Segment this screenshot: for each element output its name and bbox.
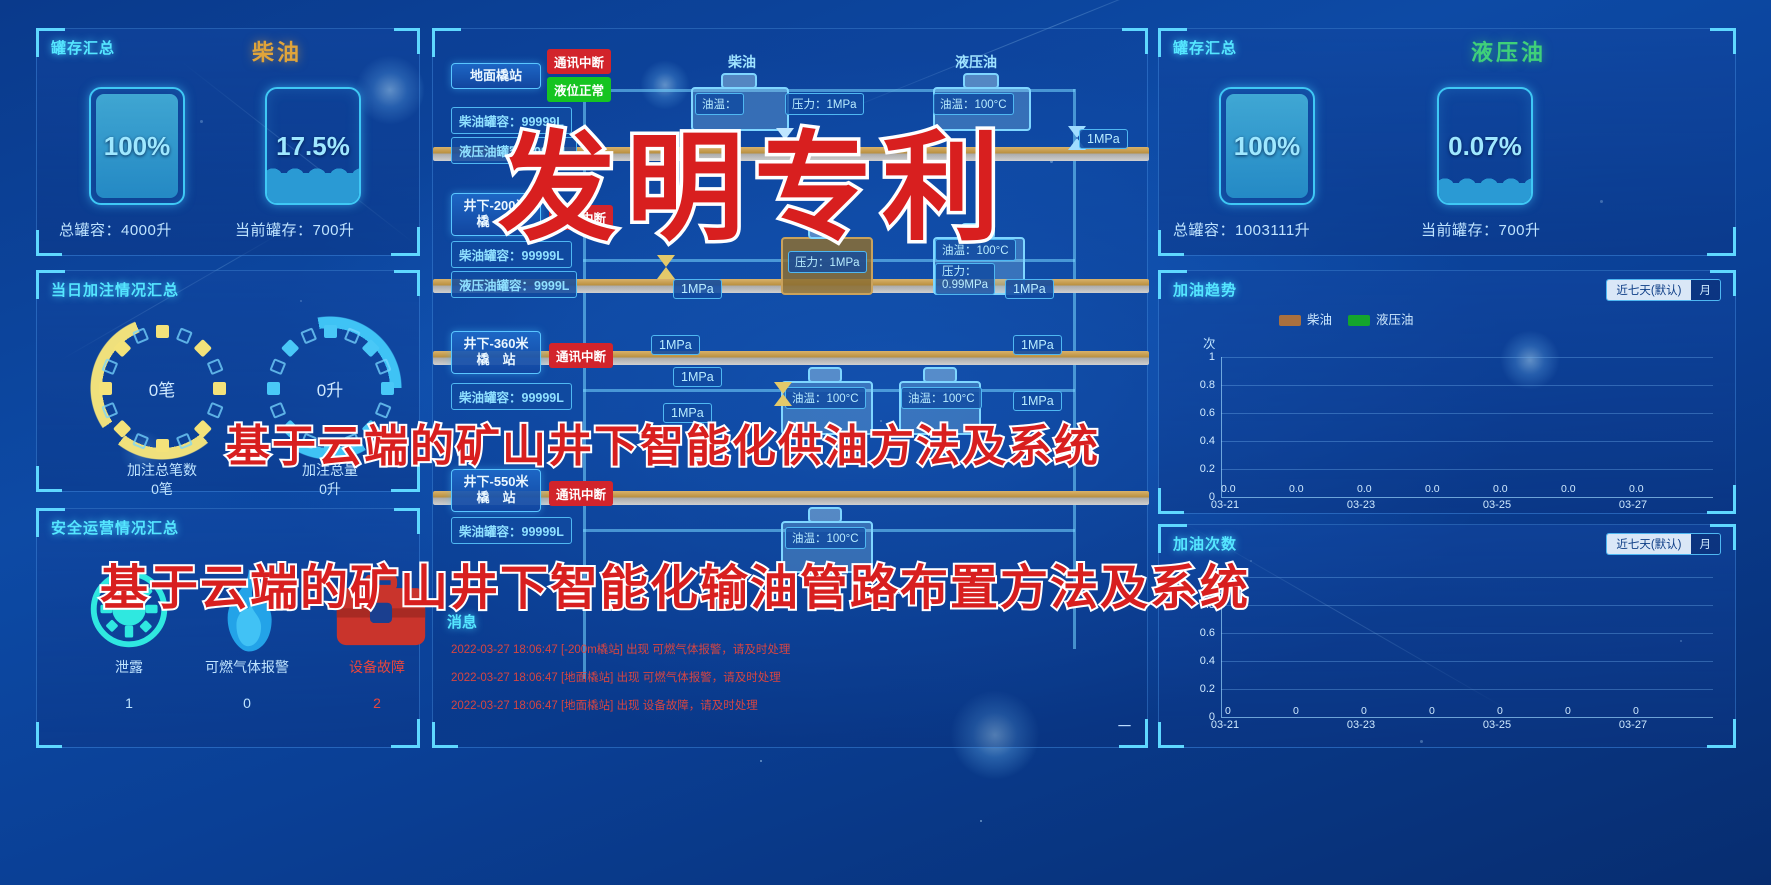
safety-label-gas-alarm: 可燃气体报警 bbox=[187, 657, 307, 677]
station-chip-360m[interactable]: 井下-360米 橇 站 bbox=[451, 331, 541, 374]
tank-percent-current-diesel: 17.5% bbox=[267, 89, 359, 203]
chart-gridline bbox=[1221, 689, 1713, 690]
chart-gridline bbox=[1221, 357, 1713, 358]
chart-point-label: 0.0 bbox=[1221, 483, 1236, 495]
tank-total-capacity-hydraulic: 总罐容：1003111升 bbox=[1173, 219, 1310, 240]
chart-x-axis bbox=[1221, 717, 1713, 718]
panel-title-hydraulic-tank: 罐存汇总 bbox=[1173, 37, 1237, 58]
chart-gridline bbox=[1221, 605, 1713, 606]
chart-point-label: 0.0 bbox=[1629, 483, 1644, 495]
panel-safety-operation-summary: 安全运营情况汇总 bbox=[36, 508, 420, 748]
panel-refuel-trend-chart: 加油趋势 近七天(默认) 月 柴油 液压油 次 1 0.8 0.6 0.4 0.… bbox=[1158, 270, 1736, 514]
range-option-week[interactable]: 近七天(默认) bbox=[1607, 534, 1690, 554]
watermark-main: 发明专利 bbox=[498, 92, 1010, 263]
chart-x-axis bbox=[1221, 497, 1713, 498]
range-option-month[interactable]: 月 bbox=[1691, 280, 1721, 300]
tank-current-stock-hydraulic: 当前罐存：700升 bbox=[1421, 219, 1541, 240]
chart-xtick: 03-27 bbox=[1611, 499, 1655, 511]
chart-xtick: 03-25 bbox=[1475, 499, 1519, 511]
tank-gauge-total-diesel: 100% bbox=[89, 87, 185, 205]
panel-diesel-tank-summary: 罐存汇总 柴油 100% 17.5% 总罐容：4000升 当前罐存：700升 bbox=[36, 28, 420, 256]
safety-value-equipment-fault: 2 bbox=[317, 695, 437, 711]
chart-ytick: 1 bbox=[1189, 351, 1215, 363]
chart-point-label: 0 bbox=[1293, 705, 1299, 717]
chart-point-label: 0 bbox=[1497, 705, 1503, 717]
pressure-tag-6: 1MPa bbox=[673, 367, 722, 387]
tank-cap-low-1 bbox=[808, 367, 842, 383]
chart-xtick: 03-21 bbox=[1203, 719, 1247, 731]
station-badge-550m-comm: 通讯中断 bbox=[549, 481, 613, 506]
message-line: 2022-03-27 18:06:47 [地面橇站] 出现 设备故障，请及时处理 bbox=[451, 697, 758, 713]
chart-point-label: 0.0 bbox=[1493, 483, 1508, 495]
chart-point-label: 0 bbox=[1565, 705, 1571, 717]
gauge-refuel-count-caption: 加注总笔数 0笔 bbox=[82, 461, 242, 499]
chart-gridline bbox=[1221, 441, 1713, 442]
range-selector-count[interactable]: 近七天(默认) 月 bbox=[1606, 533, 1721, 555]
range-selector-trend[interactable]: 近七天(默认) 月 bbox=[1606, 279, 1721, 301]
range-option-week[interactable]: 近七天(默认) bbox=[1607, 280, 1690, 300]
panel-hydraulic-tank-summary: 罐存汇总 液压油 100% 0.07% 总罐容：1003111升 当前罐存：70… bbox=[1158, 28, 1736, 256]
chart-y-axis bbox=[1221, 357, 1222, 497]
panel-title-diesel-tank: 罐存汇总 bbox=[51, 37, 115, 58]
gauge-caption-line1: 加注总笔数 bbox=[82, 461, 242, 480]
panel-title-safety: 安全运营情况汇总 bbox=[51, 517, 179, 538]
gauge-caption-line2: 0升 bbox=[250, 480, 410, 499]
gauge-caption-line2: 0笔 bbox=[82, 480, 242, 499]
legend-item-hydraulic: 液压油 bbox=[1348, 309, 1414, 328]
readout-oil-temp-4: 油温：100°C bbox=[785, 387, 866, 409]
tank-percent-total-diesel: 100% bbox=[91, 89, 183, 203]
tank-gauge-current-hydraulic: 0.07% bbox=[1437, 87, 1533, 205]
tank-cap-diesel-surface bbox=[721, 73, 757, 89]
dashboard-root: 罐存汇总 柴油 100% 17.5% 总罐容：4000升 当前罐存：700升 当… bbox=[0, 0, 1771, 885]
pressure-tag-4: 1MPa bbox=[651, 335, 700, 355]
chart-legend-trend: 柴油 液压油 bbox=[1279, 309, 1414, 328]
chart-xtick: 03-27 bbox=[1611, 719, 1655, 731]
tank-gauge-total-hydraulic: 100% bbox=[1219, 87, 1315, 205]
chart-ytick: 0.6 bbox=[1189, 627, 1215, 639]
zoom-out-button[interactable]: － bbox=[1116, 712, 1133, 737]
chart-point-label: 0.0 bbox=[1425, 483, 1440, 495]
chart-ytick: 0.4 bbox=[1189, 655, 1215, 667]
product-label-hydraulic: 液压油 bbox=[1471, 35, 1546, 67]
watermark-patent-line-1: 基于云端的矿山井下智能化供油方法及系统 bbox=[226, 410, 1100, 474]
chart-point-label: 0 bbox=[1361, 705, 1367, 717]
chart-xtick: 03-21 bbox=[1203, 499, 1247, 511]
readout-oil-temp-6: 油温：100°C bbox=[785, 527, 866, 549]
tank-total-capacity-diesel: 总罐容：4000升 bbox=[59, 219, 172, 240]
pressure-tag-3: 1MPa bbox=[1005, 279, 1054, 299]
center-label-diesel: 柴油 bbox=[721, 49, 763, 75]
tank-current-stock-diesel: 当前罐存：700升 bbox=[235, 219, 355, 240]
safety-label-leak: 泄露 bbox=[69, 657, 189, 677]
tank-cap-bottom-1 bbox=[808, 507, 842, 523]
chart-gridline bbox=[1221, 385, 1713, 386]
legend-item-diesel: 柴油 bbox=[1279, 309, 1332, 328]
safety-value-leak: 1 bbox=[69, 695, 189, 711]
watermark-patent-line-2: 基于云端的矿山井下智能化输油管路布置方法及系统 bbox=[100, 548, 1250, 618]
panel-title-refuel-trend: 加油趋势 bbox=[1173, 279, 1237, 300]
readout-oil-temp-5: 油温：100°C bbox=[901, 387, 982, 409]
tank-cap-low-2 bbox=[923, 367, 957, 383]
chart-point-label: 0.0 bbox=[1289, 483, 1304, 495]
chart-gridline bbox=[1221, 469, 1713, 470]
legend-label-hydraulic: 液压油 bbox=[1376, 313, 1414, 327]
safety-label-equipment-fault: 设备故障 bbox=[317, 657, 437, 677]
station-row-200m-hydraulic: 液压油罐容：9999L bbox=[451, 271, 577, 298]
product-label-diesel: 柴油 bbox=[252, 35, 302, 67]
chart-ytick: 0.6 bbox=[1189, 407, 1215, 419]
chart-ytick: 0.8 bbox=[1189, 379, 1215, 391]
safety-value-gas-alarm: 0 bbox=[187, 695, 307, 711]
pressure-tag-1: 1MPa bbox=[1079, 129, 1128, 149]
chart-gridline bbox=[1221, 577, 1713, 578]
chart-ylabel-trend: 次 bbox=[1203, 333, 1216, 352]
chart-xtick: 03-25 bbox=[1475, 719, 1519, 731]
chart-gridline bbox=[1221, 633, 1713, 634]
center-label-hydraulic: 液压油 bbox=[948, 49, 1004, 75]
pressure-tag-8: 1MPa bbox=[1013, 391, 1062, 411]
station-badge-360m-comm: 通讯中断 bbox=[549, 343, 613, 368]
tank-percent-total-hydraulic: 100% bbox=[1221, 89, 1313, 203]
chart-ytick: 0.2 bbox=[1189, 683, 1215, 695]
pressure-tag-2: 1MPa bbox=[673, 279, 722, 299]
chart-xtick: 03-23 bbox=[1339, 499, 1383, 511]
chart-gridline bbox=[1221, 661, 1713, 662]
readout-pressure-3: 压力： 0.99MPa bbox=[935, 263, 995, 295]
station-chip-surface[interactable]: 地面橇站 bbox=[451, 63, 541, 89]
chart-gridline bbox=[1221, 413, 1713, 414]
message-line: 2022-03-27 18:06:47 [地面橇站] 出现 可燃气体报警，请及时… bbox=[451, 669, 781, 685]
message-line: 2022-03-27 18:06:47 [-200m橇站] 出现 可燃气体报警，… bbox=[451, 641, 790, 657]
gauge-refuel-count-value: 0笔 bbox=[87, 313, 237, 463]
chart-point-label: 0.0 bbox=[1561, 483, 1576, 495]
chart-point-label: 0 bbox=[1633, 705, 1639, 717]
chart-point-label: 0.0 bbox=[1357, 483, 1372, 495]
station-chip-550m[interactable]: 井下-550米 橇 站 bbox=[451, 469, 541, 512]
pressure-tag-5: 1MPa bbox=[1013, 335, 1062, 355]
chart-ytick: 0.2 bbox=[1189, 463, 1215, 475]
chart-point-label: 0 bbox=[1429, 705, 1435, 717]
chart-xtick: 03-23 bbox=[1339, 719, 1383, 731]
range-option-month[interactable]: 月 bbox=[1691, 534, 1721, 554]
chart-ytick: 0.4 bbox=[1189, 435, 1215, 447]
panel-title-daily-refuel: 当日加注情况汇总 bbox=[51, 279, 179, 300]
legend-label-diesel: 柴油 bbox=[1307, 313, 1332, 327]
valve-icon-3[interactable] bbox=[773, 381, 793, 412]
tank-gauge-current-diesel: 17.5% bbox=[265, 87, 361, 205]
station-badge-surface-comm: 通讯中断 bbox=[547, 49, 611, 74]
tank-percent-current-hydraulic: 0.07% bbox=[1439, 89, 1531, 203]
station-row-550m-diesel: 柴油罐容：99999L bbox=[451, 517, 572, 544]
station-row-360m-diesel: 柴油罐容：99999L bbox=[451, 383, 572, 410]
gauge-refuel-count: 0笔 bbox=[87, 313, 237, 463]
chart-point-label: 0 bbox=[1225, 705, 1231, 717]
tank-cap-hydraulic-surface bbox=[963, 73, 999, 89]
